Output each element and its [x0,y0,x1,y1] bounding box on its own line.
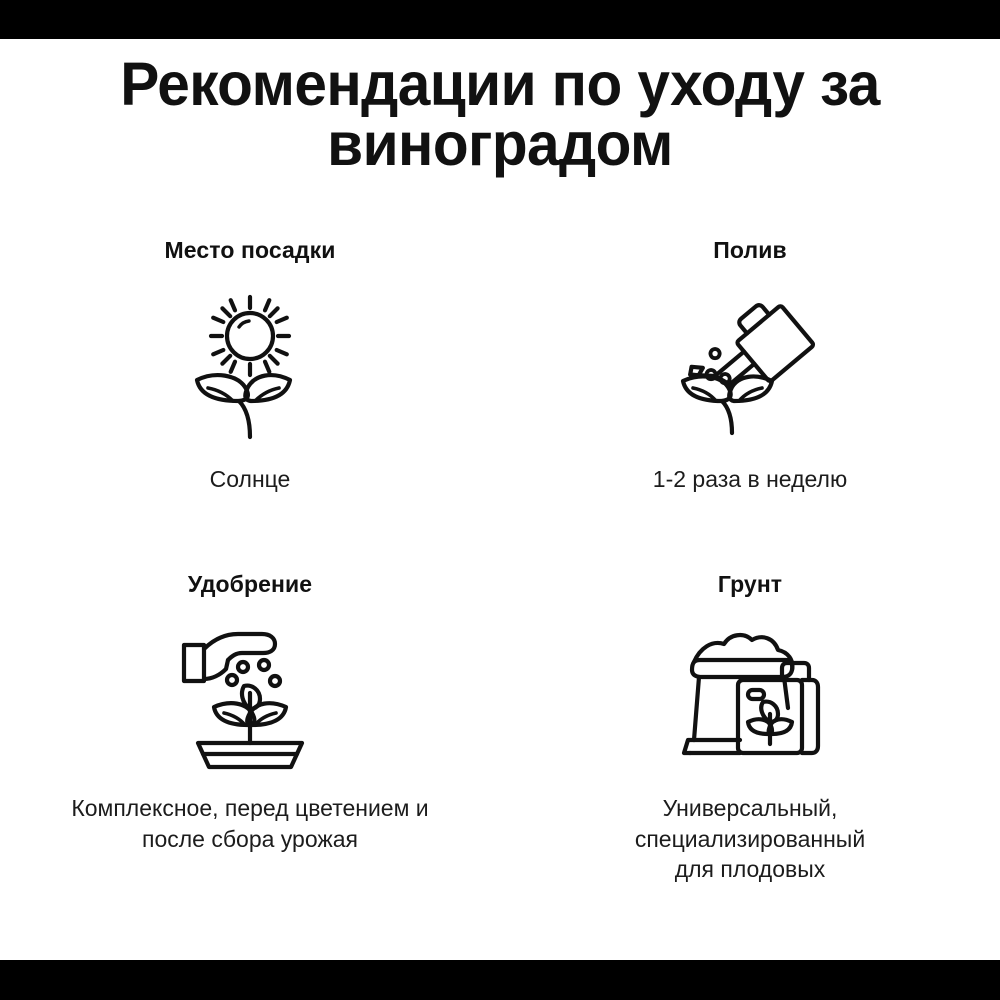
section-heading: Полив [713,235,786,265]
bottom-frame-bar [0,960,1000,1000]
section-planting-place: Место посадки [0,235,500,494]
sun-plant-icon [175,287,325,442]
section-soil: Грунт [500,569,1000,884]
hand-fertilizing-potted-plant-icon [170,617,330,777]
section-caption: Комплексное, перед цветением и после сбо… [10,793,490,854]
sections-row-bottom: Удобрение [0,569,1000,884]
section-caption: 1-2 раза в неделю [510,464,990,494]
soil-sack-with-bottle-icon [670,617,830,777]
care-sections-grid: Место посадки [0,235,1000,884]
page-title: Рекомендации по уходу за виноградом [58,55,941,175]
top-frame-bar [0,0,1000,39]
sections-row-top: Место посадки [0,235,1000,494]
infographic-canvas: Рекомендации по уходу за виноградом Мест… [0,0,1000,1000]
section-heading: Место посадки [165,235,336,265]
section-caption: Универсальный, специализированный для пл… [510,793,990,884]
section-caption: Солнце [10,464,490,494]
section-heading: Удобрение [188,569,312,599]
section-fertilizer: Удобрение [0,569,500,884]
watering-can-plant-icon [668,287,833,442]
section-heading: Грунт [718,569,782,599]
section-watering: Полив [500,235,1000,494]
